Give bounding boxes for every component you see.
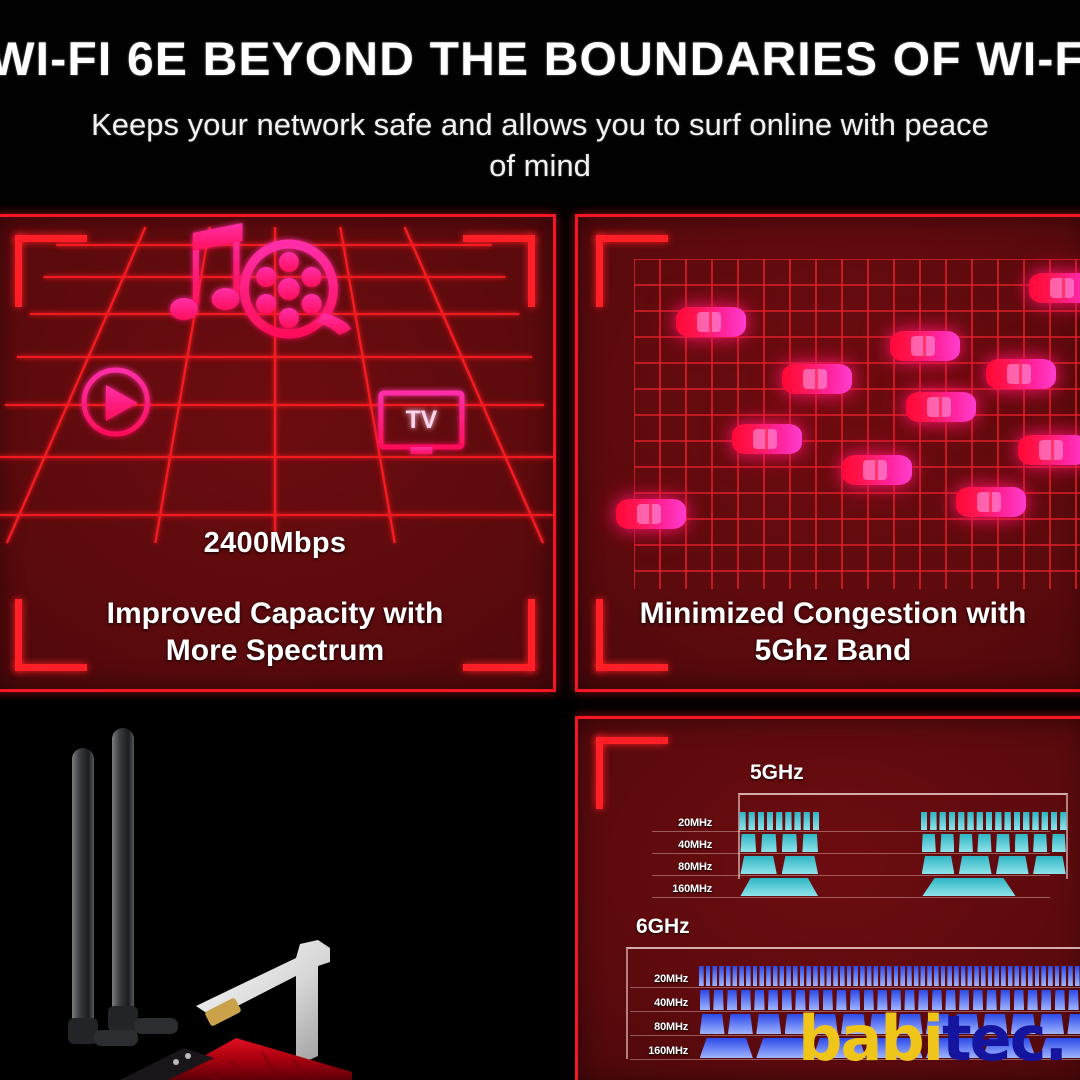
channel-block — [728, 1014, 753, 1034]
channel-block — [860, 966, 865, 986]
channel-block — [920, 966, 925, 986]
channel-block — [981, 966, 986, 986]
channel-block — [988, 966, 993, 986]
channel-block — [746, 966, 751, 986]
channel-block — [753, 966, 758, 986]
channel-block — [1021, 966, 1026, 986]
channel-block — [996, 834, 1010, 852]
panel-caption-line2: 5Ghz Band — [578, 632, 1080, 669]
channel-block — [1060, 812, 1067, 830]
channel-block — [776, 812, 783, 830]
channel-group — [698, 965, 1080, 986]
channel-block — [940, 834, 954, 852]
channel-block — [1035, 966, 1040, 986]
channel-block — [700, 1014, 725, 1034]
channel-block — [766, 966, 771, 986]
channel-block — [927, 966, 932, 986]
logo-part-tec: tec. — [942, 1002, 1066, 1075]
channel-group — [920, 855, 1069, 874]
channel-block — [994, 966, 999, 986]
car-icon — [956, 487, 1026, 517]
channel-group — [920, 833, 1069, 852]
channel-block — [773, 966, 778, 986]
channel-block — [700, 990, 710, 1010]
channel-block — [739, 966, 744, 986]
perspective-grid-graphic: TV — [0, 217, 553, 547]
channel-block — [785, 812, 792, 830]
channel-block — [732, 966, 737, 986]
channel-block — [959, 856, 992, 874]
film-reel-icon — [244, 244, 351, 335]
channel-block — [967, 966, 972, 986]
channel-block — [867, 966, 872, 986]
row-baseline — [630, 987, 1080, 988]
brand-logo: babitec. — [798, 1008, 1066, 1070]
band-title-6ghz: 6GHz — [636, 915, 690, 939]
car-icon — [1018, 435, 1080, 465]
panel-caption-line1: Improved Capacity with — [0, 595, 553, 632]
channel-block — [754, 990, 764, 1010]
row-label-5ghz-20mhz: 20MHz — [652, 817, 712, 829]
channel-block — [974, 966, 979, 986]
channel-block — [1004, 812, 1011, 830]
channel-block — [1051, 812, 1058, 830]
channel-block — [1055, 966, 1060, 986]
speed-label: 2400Mbps — [0, 527, 553, 560]
channel-block — [782, 990, 792, 1010]
channel-block — [739, 812, 746, 830]
channel-group — [920, 877, 1019, 896]
row-label-5ghz-160mhz: 160MHz — [652, 883, 712, 895]
channel-block — [1033, 834, 1047, 852]
channel-block — [1014, 812, 1021, 830]
music-note-icon — [170, 223, 242, 320]
channel-block — [995, 812, 1002, 830]
panel-caption-line2: More Spectrum — [0, 632, 553, 669]
row-baseline — [652, 831, 1050, 832]
channel-block — [914, 966, 919, 986]
channel-block — [922, 834, 936, 852]
channel-block — [894, 966, 899, 986]
channel-block — [759, 966, 764, 986]
channel-block — [794, 812, 801, 830]
row-baseline — [652, 897, 1050, 898]
product-image-wifi-card — [0, 700, 575, 1080]
svg-text:TV: TV — [406, 406, 438, 434]
channel-block — [873, 966, 878, 986]
channel-block — [803, 812, 810, 830]
car-icon — [1029, 273, 1080, 303]
channel-block — [954, 966, 959, 986]
page-title: WI-FI 6E BEYOND THE BOUNDARIES OF WI-FI — [0, 30, 1080, 88]
channel-block — [740, 834, 756, 852]
channel-block — [847, 966, 852, 986]
channel-block — [826, 966, 831, 986]
channel-block — [833, 966, 838, 986]
channel-block — [1061, 966, 1066, 986]
channel-block — [1014, 966, 1019, 986]
channel-block — [930, 812, 937, 830]
channel-block — [740, 878, 818, 896]
car-icon — [616, 499, 686, 529]
channel-block — [806, 966, 811, 986]
channel-block — [758, 812, 765, 830]
channel-block — [786, 966, 791, 986]
channel-block — [713, 990, 723, 1010]
channel-block — [922, 878, 1015, 896]
channel-block — [719, 966, 724, 986]
car-icon — [986, 359, 1056, 389]
channel-group — [738, 833, 821, 852]
channel-block — [967, 812, 974, 830]
channel-block — [959, 834, 973, 852]
logo-part-babi: babi — [798, 1002, 942, 1075]
channel-block — [741, 990, 751, 1010]
channel-block — [986, 812, 993, 830]
channel-block — [977, 834, 991, 852]
panel-caption-line1: Minimized Congestion with — [578, 595, 1080, 632]
row-label-6ghz-160mhz: 160MHz — [630, 1045, 688, 1057]
channel-block — [900, 966, 905, 986]
channel-block — [782, 856, 818, 874]
car-icon — [906, 392, 976, 422]
channel-block — [958, 812, 965, 830]
channel-block — [961, 966, 966, 986]
car-icon — [890, 331, 960, 361]
channel-block — [1068, 966, 1073, 986]
corner-bracket-top-left-icon — [596, 737, 668, 809]
car-icon — [676, 307, 746, 337]
car-icon — [782, 364, 852, 394]
row-label-6ghz-40mhz: 40MHz — [630, 997, 688, 1009]
panel-minimized-congestion: Minimized Congestion with 5Ghz Band — [575, 214, 1080, 692]
channel-block — [1041, 966, 1046, 986]
channel-block — [793, 966, 798, 986]
channel-block — [1041, 812, 1048, 830]
channel-block — [802, 834, 818, 852]
channel-block — [1067, 1014, 1080, 1034]
channel-block — [712, 966, 717, 986]
channel-block — [947, 966, 952, 986]
row-baseline — [652, 853, 1050, 854]
tv-icon: TV — [381, 393, 462, 454]
channel-block — [813, 812, 820, 830]
panel-improved-capacity: TV 2400Mbps Improved Capacity with More … — [0, 214, 556, 692]
car-icon — [842, 455, 912, 485]
channel-block — [740, 856, 776, 874]
channel-block — [949, 812, 956, 830]
channel-block — [1001, 966, 1006, 986]
channel-block — [853, 966, 858, 986]
channel-block — [768, 990, 778, 1010]
channel-block — [706, 966, 711, 986]
channel-block — [1068, 990, 1078, 1010]
channel-block — [1032, 812, 1039, 830]
channel-block — [813, 966, 818, 986]
infographic-stage: WI-FI 6E BEYOND THE BOUNDARIES OF WI-FI … — [0, 0, 1080, 1080]
channel-block — [1033, 856, 1066, 874]
channel-block — [996, 856, 1029, 874]
channel-block — [941, 966, 946, 986]
channel-block — [1015, 834, 1029, 852]
channel-block — [1075, 966, 1080, 986]
channel-block — [1023, 812, 1030, 830]
antenna-icon — [68, 728, 178, 1046]
channel-block — [840, 966, 845, 986]
page-subtitle: Keeps your network safe and allows you t… — [90, 104, 990, 186]
row-label-6ghz-80mhz: 80MHz — [630, 1021, 688, 1033]
channel-block — [1052, 834, 1066, 852]
row-baseline — [652, 875, 1050, 876]
car-icon — [732, 424, 802, 454]
channel-block — [782, 834, 798, 852]
channel-block — [756, 1014, 781, 1034]
channel-block — [921, 812, 928, 830]
channel-block — [800, 966, 805, 986]
channel-block — [767, 812, 774, 830]
channel-block — [1048, 966, 1053, 986]
row-label-6ghz-20mhz: 20MHz — [630, 973, 688, 985]
channel-group — [738, 877, 821, 896]
channel-block — [939, 812, 946, 830]
channel-block — [748, 812, 755, 830]
channel-block — [820, 966, 825, 986]
channel-block — [907, 966, 912, 986]
row-label-5ghz-40mhz: 40MHz — [652, 839, 712, 851]
channel-block — [761, 834, 777, 852]
channel-block — [922, 856, 955, 874]
row-label-5ghz-80mhz: 80MHz — [652, 861, 712, 873]
channel-block — [880, 966, 885, 986]
channel-block — [700, 1038, 753, 1058]
band-title-5ghz: 5GHz — [750, 761, 804, 785]
channel-block — [976, 812, 983, 830]
channel-block — [887, 966, 892, 986]
channel-block — [779, 966, 784, 986]
traffic-grid-graphic — [634, 259, 1080, 589]
channel-block — [1028, 966, 1033, 986]
channel-block — [934, 966, 939, 986]
channel-group — [920, 811, 1069, 830]
channel-block — [726, 966, 731, 986]
channel-group — [738, 811, 821, 830]
play-button-icon — [84, 370, 147, 434]
channel-block — [699, 966, 704, 986]
channel-group — [738, 855, 821, 874]
channel-block — [1008, 966, 1013, 986]
channel-block — [727, 990, 737, 1010]
